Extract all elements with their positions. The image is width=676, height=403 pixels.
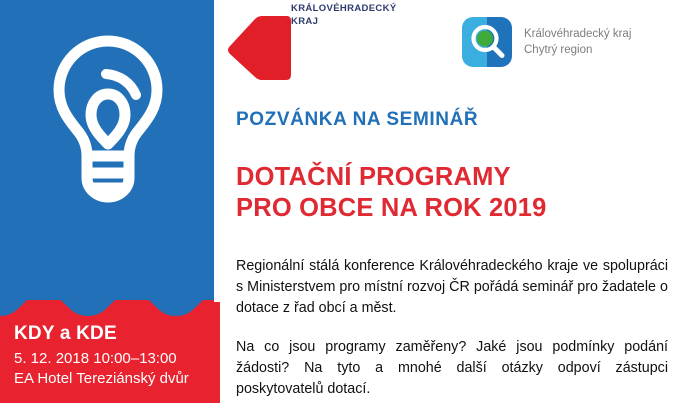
main-content: POZVÁNKA NA SEMINÁŘ DOTAČNÍ PROGRAMY PRO… <box>236 108 668 400</box>
eyebrow-title: POZVÁNKA NA SEMINÁŘ <box>236 108 668 132</box>
body-paragraph-1: Regionální stálá konference Královéhrade… <box>236 256 668 319</box>
left-panel: KDY a KDE 5. 12. 2018 10:00–13:00 EA Hot… <box>0 0 220 403</box>
kraj-logo-text: KRÁLOVÉHRADECKÝ KRAJ <box>291 2 411 28</box>
event-venue: EA Hotel Tereziánský dvůr <box>14 369 220 389</box>
headline-line-1: DOTAČNÍ PROGRAMY <box>236 162 668 193</box>
body-paragraph-2: Na co jsou programy zaměřeny? Jaké jsou … <box>236 337 668 400</box>
invitation-poster: KDY a KDE 5. 12. 2018 10:00–13:00 EA Hot… <box>0 0 676 403</box>
kraj-logo-line1: KRÁLOVÉHRADECKÝ <box>291 2 411 15</box>
page-title: DOTAČNÍ PROGRAMY PRO OBCE NA ROK 2019 <box>236 162 668 224</box>
kraj-logo-line2: KRAJ <box>291 15 411 28</box>
magnifier-logo-icon <box>462 17 512 67</box>
chytry-logo-line1: Královéhradecký kraj <box>524 26 631 42</box>
chytry-region-logo: Královéhradecký kraj Chytrý region <box>462 17 631 67</box>
chytry-region-text: Královéhradecký kraj Chytrý region <box>524 26 631 58</box>
lightbulb-icon <box>44 32 172 220</box>
left-arrow-icon <box>226 12 300 84</box>
headline-line-2: PRO OBCE NA ROK 2019 <box>236 193 668 224</box>
when-where-block: KDY a KDE 5. 12. 2018 10:00–13:00 EA Hot… <box>14 322 220 389</box>
event-datetime: 5. 12. 2018 10:00–13:00 <box>14 349 220 369</box>
chytry-logo-line2: Chytrý region <box>524 42 631 58</box>
when-where-title: KDY a KDE <box>14 322 220 345</box>
kraj-logo: KRÁLOVÉHRADECKÝ KRAJ <box>226 0 426 90</box>
